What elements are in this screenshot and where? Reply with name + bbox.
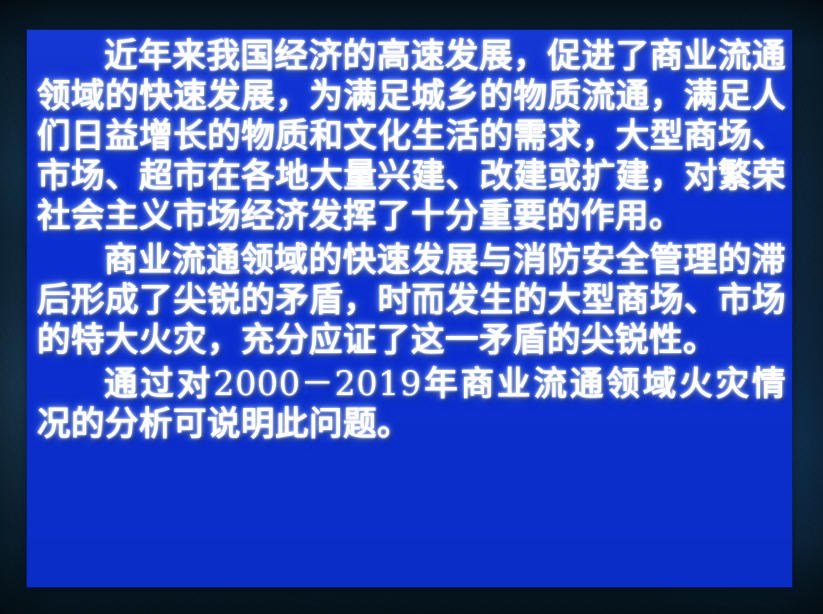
paragraph-data-analysis: 通过对2000－2019年商业流通领域火灾情况的分析可说明此问题。	[37, 364, 786, 444]
paragraph-economy-growth: 近年来我国经济的高速发展，促进了商业流通领域的快速发展，为满足城乡的物质流通，满…	[37, 36, 786, 236]
slide-body-text: 近年来我国经济的高速发展，促进了商业流通领域的快速发展，为满足城乡的物质流通，满…	[37, 36, 786, 444]
paragraph-fire-safety-conflict: 商业流通领域的快速发展与消防安全管理的滞后形成了尖锐的矛盾，时而发生的大型商场、…	[37, 240, 786, 360]
analysis-year-range: 2000－2019	[213, 364, 422, 403]
content-panel: 近年来我国经济的高速发展，促进了商业流通领域的快速发展，为满足城乡的物质流通，满…	[27, 30, 792, 587]
analysis-text-prefix: 通过对	[104, 364, 213, 403]
presentation-slide: 近年来我国经济的高速发展，促进了商业流通领域的快速发展，为满足城乡的物质流通，满…	[0, 0, 823, 614]
